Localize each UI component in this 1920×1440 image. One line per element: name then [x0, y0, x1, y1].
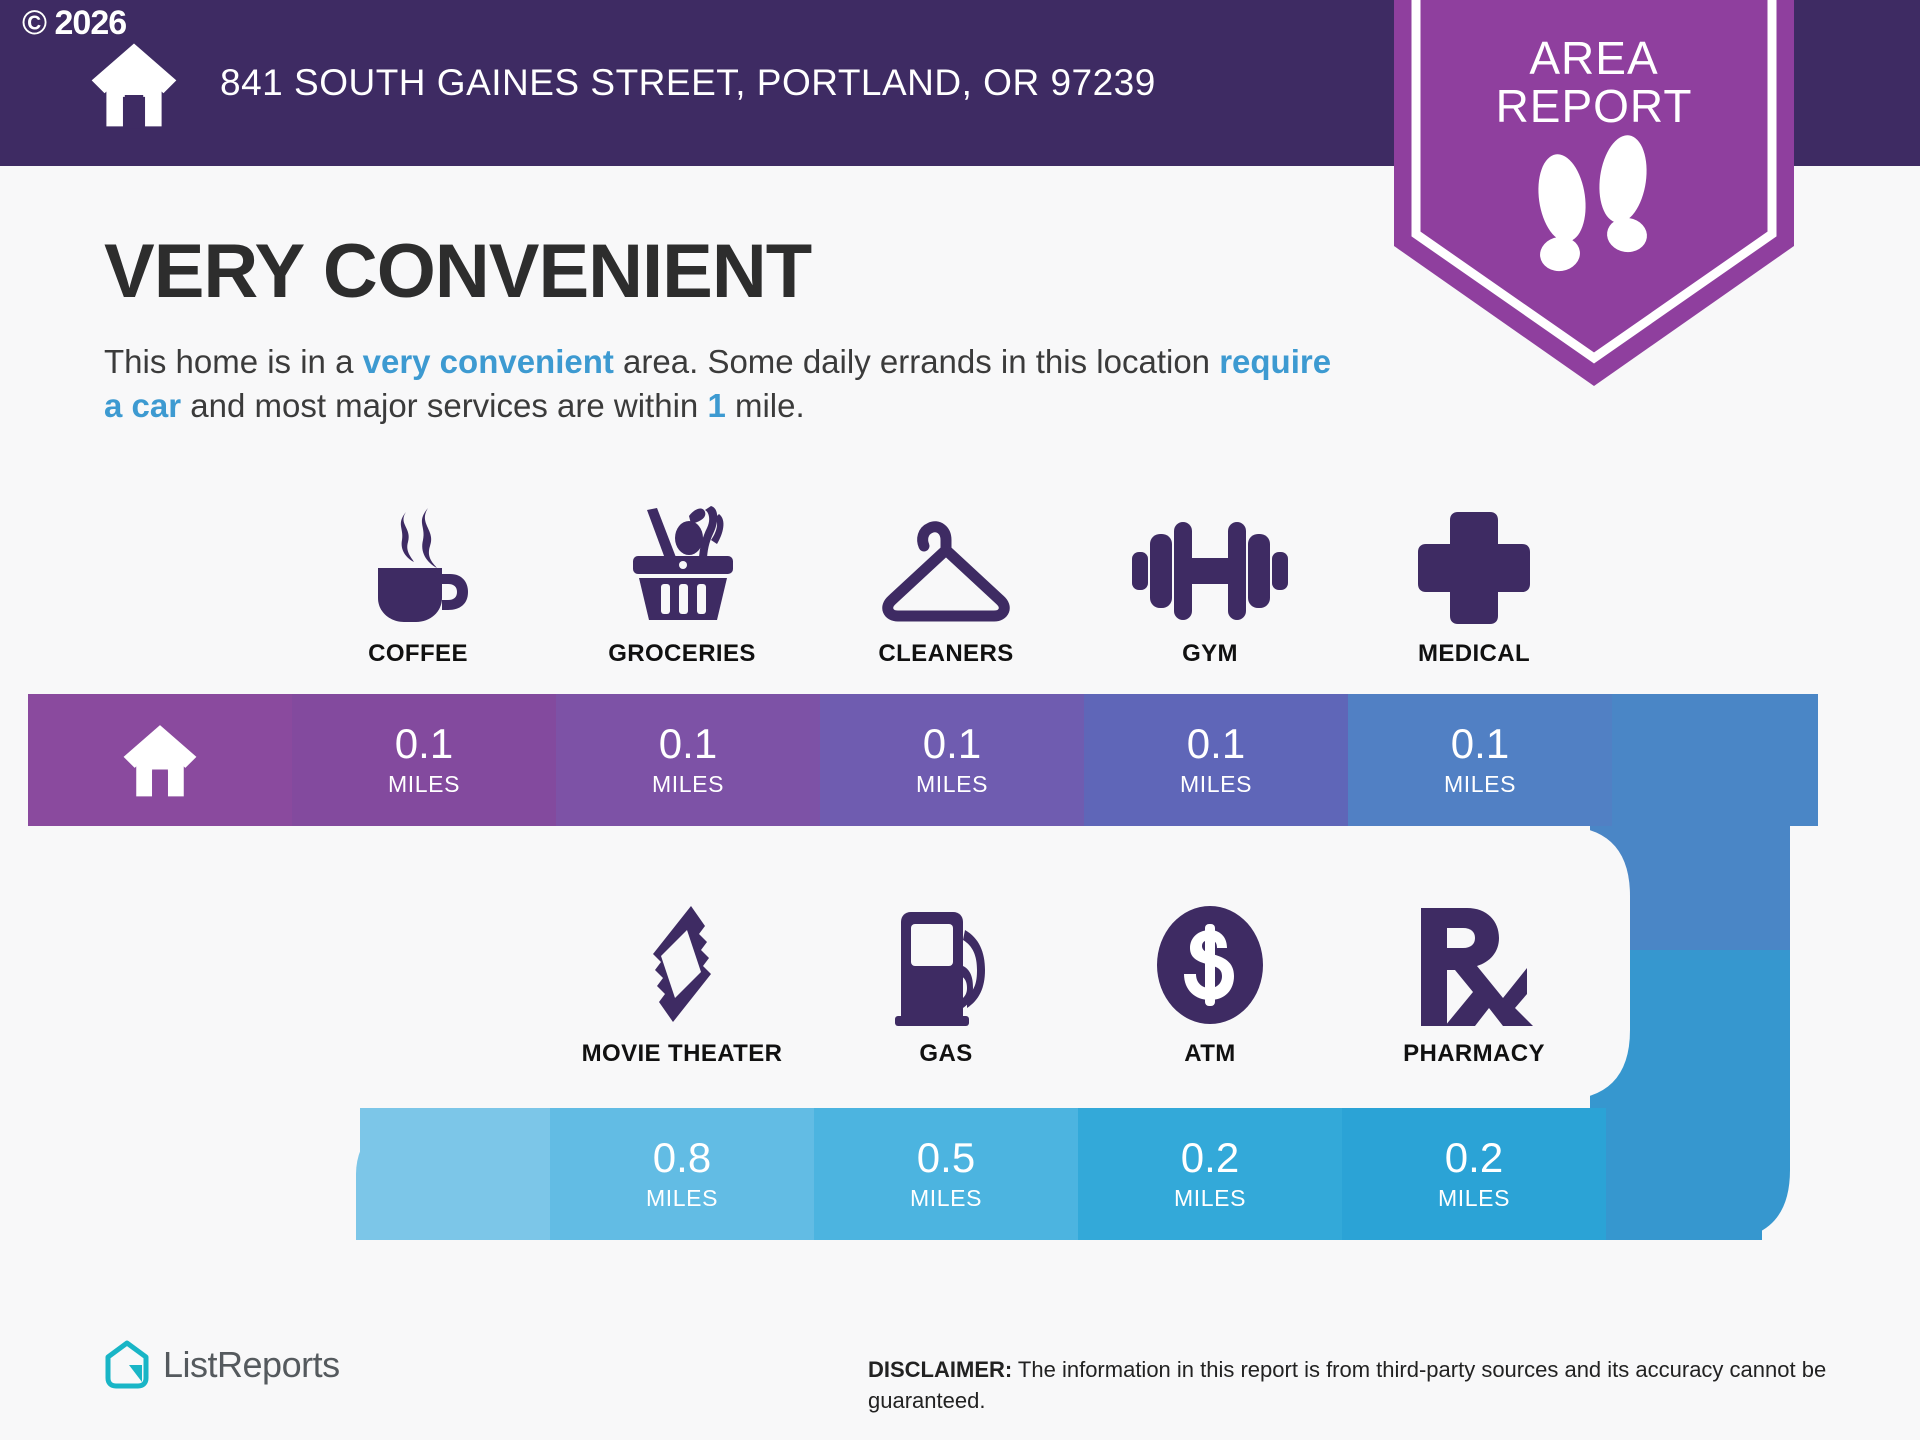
area-report-badge: AREA REPORT	[1376, 0, 1812, 396]
gas-pump-icon	[887, 900, 1005, 1026]
track-lead-row-2	[356, 1108, 550, 1240]
medical-cross-icon	[1416, 500, 1532, 626]
distance-value: 0.5	[917, 1137, 975, 1179]
distance-bar-row-1: 0.1 MILES 0.1 MILES 0.1 MILES 0.1 MILES …	[28, 694, 1818, 826]
listreports-logo-text: ListReports	[163, 1344, 340, 1386]
movie-ticket-icon	[621, 900, 743, 1026]
amenity-label: MOVIE THEATER	[582, 1040, 783, 1068]
disclaimer-text: The information in this report is from t…	[868, 1357, 1826, 1413]
property-address: 841 SOUTH GAINES STREET, PORTLAND, OR 97…	[220, 0, 1156, 166]
distance-unit: MILES	[1438, 1185, 1510, 1212]
distance-value: 0.2	[1181, 1137, 1239, 1179]
distance-cell-cleaners: 0.1 MILES	[820, 694, 1084, 826]
disclaimer-label: DISCLAIMER:	[868, 1357, 1012, 1382]
distance-cell-movie-theater: 0.8 MILES	[550, 1108, 814, 1240]
distance-cell-gym: 0.1 MILES	[1084, 694, 1348, 826]
disclaimer: DISCLAIMER: The information in this repo…	[868, 1355, 1868, 1417]
amenity-label: MEDICAL	[1418, 640, 1530, 668]
track-tail-row-1	[1612, 694, 1818, 826]
distance-value: 0.1	[1451, 723, 1509, 765]
amenity-pharmacy-overlay: PHARMACY	[1342, 900, 1606, 1068]
amenity-label: COFFEE	[368, 640, 468, 668]
distance-value: 0.8	[653, 1137, 711, 1179]
distance-unit: MILES	[1444, 771, 1516, 798]
amenity-label: ATM	[1184, 1040, 1235, 1068]
summary-part-2: area. Some daily errands in this locatio…	[614, 343, 1219, 380]
distance-cell-groceries: 0.1 MILES	[556, 694, 820, 826]
distance-unit: MILES	[916, 771, 988, 798]
distance-unit: MILES	[388, 771, 460, 798]
amenity-label: GAS	[919, 1040, 972, 1068]
distance-value: 0.2	[1445, 1137, 1503, 1179]
amenity-gas-overlay: GAS	[814, 900, 1078, 1068]
distance-cell-coffee: 0.1 MILES	[292, 694, 556, 826]
dumbbell-icon	[1130, 500, 1290, 626]
track-tail-row-2	[1606, 1108, 1762, 1240]
amenity-label: PHARMACY	[1403, 1040, 1545, 1068]
summary-highlight-1: very convenient	[363, 343, 614, 380]
dollar-coin-icon	[1154, 900, 1266, 1026]
distance-unit: MILES	[1174, 1185, 1246, 1212]
amenity-label: GYM	[1182, 640, 1238, 668]
distance-unit: MILES	[646, 1185, 718, 1212]
distance-value: 0.1	[923, 723, 981, 765]
distance-value: 0.1	[395, 723, 453, 765]
rx-icon	[1415, 900, 1533, 1026]
distance-cell-gas: 0.5 MILES	[814, 1108, 1078, 1240]
summary-part-1: This home is in a	[104, 343, 363, 380]
track-bottom-tail	[356, 1240, 500, 1440]
grocery-basket-icon	[619, 500, 745, 626]
amenity-coffee: COFFEE	[286, 500, 550, 668]
amenity-movie-theater-overlay: MOVIE THEATER	[550, 900, 814, 1068]
amenity-atm-overlay: ATM	[1078, 900, 1342, 1068]
amenity-medical: MEDICAL	[1342, 500, 1606, 668]
amenity-label: GROCERIES	[608, 640, 756, 668]
distance-unit: MILES	[652, 771, 724, 798]
distance-unit: MILES	[910, 1185, 982, 1212]
amenity-cleaners: CLEANERS	[814, 500, 1078, 668]
summary-part-4: mile.	[726, 387, 805, 424]
coffee-cup-icon	[362, 500, 474, 626]
amenity-icon-row-2-overlay: MOVIE THEATER GAS	[550, 900, 1606, 1068]
summary-part-3: and most major services are within	[181, 387, 707, 424]
summary-highlight-3: 1	[707, 387, 725, 424]
distance-value: 0.1	[659, 723, 717, 765]
copyright-label: © 2026	[22, 4, 126, 43]
listreports-logo[interactable]: ListReports	[104, 1340, 340, 1390]
page-title: VERY CONVENIENT	[104, 228, 811, 315]
home-icon	[88, 38, 180, 130]
home-marker-cell	[28, 694, 292, 826]
amenity-gym: GYM	[1078, 500, 1342, 668]
distance-unit: MILES	[1180, 771, 1252, 798]
home-icon	[120, 722, 200, 798]
distance-cell-medical: 0.1 MILES	[1348, 694, 1612, 826]
amenity-icon-row-1: COFFEE	[286, 500, 1606, 668]
area-report-page: © 2026 841 SOUTH GAINES STREET, PORTLAND…	[0, 0, 1920, 1440]
amenity-label: CLEANERS	[878, 640, 1013, 668]
distance-cell-atm: 0.2 MILES	[1078, 1108, 1342, 1240]
distance-cell-pharmacy: 0.2 MILES	[1342, 1108, 1606, 1240]
clothes-hanger-icon	[876, 500, 1016, 626]
amenity-groceries: GROCERIES	[550, 500, 814, 668]
listreports-logo-icon	[104, 1340, 150, 1390]
distance-bar-row-2: 0.8 MILES 0.5 MILES 0.2 MILES 0.2 MILES	[356, 1108, 1762, 1240]
distance-value: 0.1	[1187, 723, 1245, 765]
summary-text: This home is in a very convenient area. …	[104, 340, 1354, 427]
